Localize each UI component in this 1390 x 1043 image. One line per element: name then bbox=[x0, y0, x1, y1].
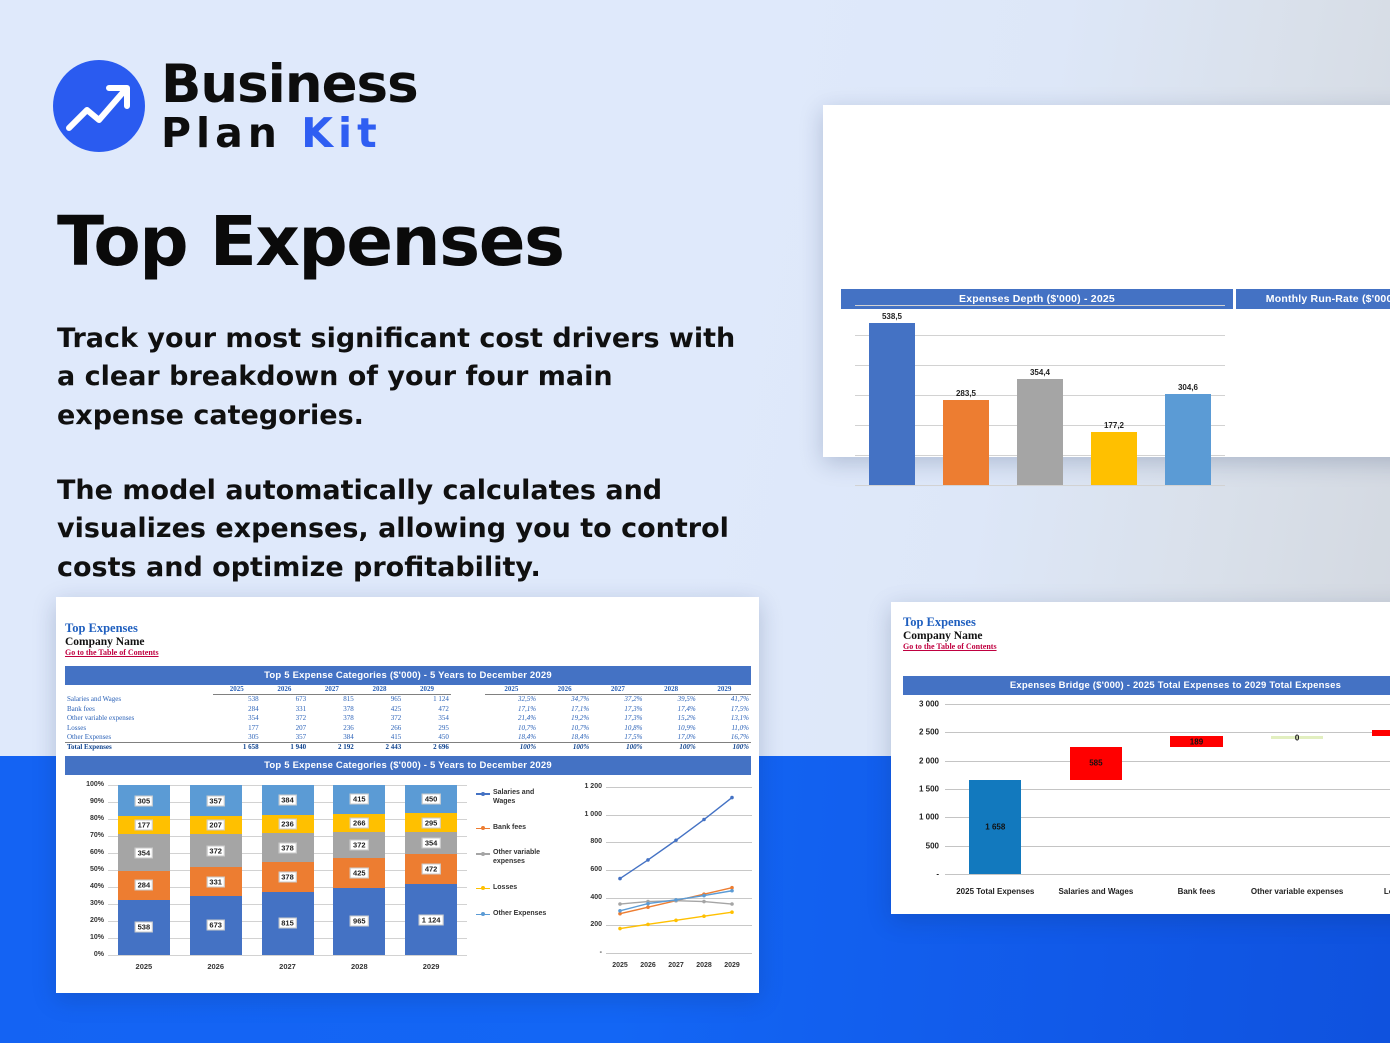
cell-value: 965 bbox=[356, 695, 404, 705]
table-of-contents-link[interactable]: Go to the Table of Contents bbox=[65, 648, 159, 657]
cell-value: 331 bbox=[261, 705, 309, 714]
segment-value-label: 207 bbox=[206, 820, 225, 831]
stack-segment: 538 bbox=[118, 900, 170, 955]
row-label: Other Expenses bbox=[65, 733, 213, 743]
brand-kit-word: Kit bbox=[301, 109, 381, 157]
stack-segment: 236 bbox=[262, 815, 314, 833]
y-axis-tick: 80% bbox=[82, 815, 104, 822]
legend-line-marker bbox=[476, 828, 490, 830]
cell-value: 673 bbox=[261, 695, 309, 705]
grid-line bbox=[108, 955, 467, 956]
segment-value-label: 673 bbox=[206, 920, 225, 931]
cell-percent: 17,4% bbox=[644, 705, 697, 714]
x-axis-tick: 2026 bbox=[634, 962, 662, 969]
y-axis-tick: 10% bbox=[82, 934, 104, 941]
x-axis-tick: 2025 bbox=[606, 962, 634, 969]
sheet-title: Top Expenses bbox=[65, 621, 159, 636]
table-row: Salaries and Wages5386738159651 12432,5%… bbox=[65, 695, 751, 705]
legend-line-marker bbox=[476, 793, 490, 795]
cell-percent: 17,0% bbox=[644, 733, 697, 743]
cell-gap bbox=[451, 695, 485, 705]
segment-value-label: 354 bbox=[422, 838, 441, 849]
segment-value-label: 384 bbox=[278, 794, 297, 805]
segment-value-label: 472 bbox=[422, 864, 441, 875]
segment-value-label: 284 bbox=[135, 880, 154, 891]
cell-value: 295 bbox=[403, 724, 451, 733]
segment-value-label: 354 bbox=[135, 847, 154, 858]
row-label: Other variable expenses bbox=[65, 714, 213, 723]
segment-value-label: 538 bbox=[135, 922, 154, 933]
x-axis-tick: 2025 Total Expenses bbox=[945, 887, 1046, 896]
table-row: Losses17720723626629510,7%10,7%10,8%10,9… bbox=[65, 724, 751, 733]
y-axis-tick: - bbox=[936, 870, 939, 879]
cell-percent: 17,5% bbox=[591, 733, 644, 743]
depth-bar: 354,4 bbox=[1017, 379, 1063, 485]
y-axis-tick: 100% bbox=[82, 781, 104, 788]
cell-percent: 15,2% bbox=[644, 714, 697, 723]
cell-percent: 10,7% bbox=[485, 724, 538, 733]
legend-item: Other Expenses bbox=[476, 910, 554, 919]
expense-table-body: Salaries and Wages5386738159651 12432,5%… bbox=[65, 695, 751, 753]
monthly-runrate-title: Monthly Run-Rate ($'000) bbox=[1236, 289, 1390, 309]
cell-value: 372 bbox=[356, 714, 404, 723]
cell-value: 450 bbox=[403, 733, 451, 743]
segment-value-label: 372 bbox=[350, 840, 369, 851]
total-percent: 100% bbox=[485, 743, 538, 753]
cell-value: 357 bbox=[261, 733, 309, 743]
waterfall-value-label: 0 bbox=[1295, 733, 1299, 742]
stack-segment: 425 bbox=[333, 858, 385, 888]
expense-trend-line-chart: 1 2001 000800600400200-20252026202720282… bbox=[576, 781, 752, 973]
cell-value: 177 bbox=[213, 724, 261, 733]
cell-gap bbox=[451, 743, 485, 753]
legend-label: Losses bbox=[493, 884, 517, 893]
x-axis-tick: 2028 bbox=[333, 962, 385, 971]
total-value: 2 192 bbox=[308, 743, 356, 753]
y-axis-tick: 40% bbox=[82, 883, 104, 890]
legend-label: Other variable expenses bbox=[493, 849, 554, 867]
segment-value-label: 415 bbox=[350, 794, 369, 805]
col-year: 2025 bbox=[213, 685, 261, 695]
stacked-column: 4502953544721 124 bbox=[405, 785, 457, 955]
cell-value: 384 bbox=[308, 733, 356, 743]
x-axis-tick: 2027 bbox=[262, 962, 314, 971]
total-label: Total Expenses bbox=[65, 743, 213, 753]
cell-percent: 37,2% bbox=[591, 695, 644, 705]
cell-gap bbox=[451, 733, 485, 743]
cell-percent: 21,4% bbox=[485, 714, 538, 723]
cell-percent: 10,8% bbox=[591, 724, 644, 733]
stack-segment: 472 bbox=[405, 854, 457, 884]
waterfall-bar: 585 bbox=[1070, 747, 1122, 780]
brand-plan-word: Plan bbox=[161, 109, 282, 157]
segment-value-label: 378 bbox=[278, 872, 297, 883]
cell-value: 538 bbox=[213, 695, 261, 705]
hero-paragraph-1: Track your most significant cost drivers… bbox=[57, 320, 737, 435]
stack-segment: 1 124 bbox=[405, 884, 457, 955]
y-axis-tick: 0% bbox=[82, 951, 104, 958]
waterfall-value-label: 189 bbox=[1190, 737, 1203, 746]
y-axis-tick: 2 000 bbox=[919, 756, 939, 765]
stack-segment: 372 bbox=[333, 832, 385, 858]
table-row: Other Expenses30535738441545018,4%18,4%1… bbox=[65, 733, 751, 743]
cell-percent: 19,2% bbox=[538, 714, 591, 723]
stack-segment: 305 bbox=[118, 785, 170, 816]
cell-value: 354 bbox=[213, 714, 261, 723]
grid-line bbox=[855, 305, 1225, 306]
stack-segment: 415 bbox=[333, 785, 385, 814]
segment-value-label: 266 bbox=[350, 818, 369, 829]
cell-percent: 10,7% bbox=[538, 724, 591, 733]
segment-value-label: 357 bbox=[206, 795, 225, 806]
stacked-column: 357207372331673 bbox=[190, 785, 242, 955]
col-year: 2028 bbox=[356, 685, 404, 695]
cell-value: 425 bbox=[356, 705, 404, 714]
legend-label: Bank fees bbox=[493, 824, 526, 833]
depth-bar: 283,5 bbox=[943, 400, 989, 485]
expense-table: 2025202620272028202920252026202720282029… bbox=[65, 685, 751, 753]
row-label: Salaries and Wages bbox=[65, 695, 213, 705]
cell-percent: 11,0% bbox=[698, 724, 751, 733]
legend-label: Salaries and Wages bbox=[493, 789, 554, 807]
bar-value-label: 304,6 bbox=[1178, 383, 1198, 392]
expenses-depth-panel: Expenses Depth ($'000) - 2025 Monthly Ru… bbox=[823, 105, 1390, 457]
stack-segment: 354 bbox=[405, 832, 457, 854]
x-axis-tick: 2025 bbox=[118, 962, 170, 971]
cell-value: 236 bbox=[308, 724, 356, 733]
cell-percent: 17,3% bbox=[591, 714, 644, 723]
segment-value-label: 378 bbox=[278, 842, 297, 853]
table-row: Bank fees28433137842547217,1%17,1%17,3%1… bbox=[65, 705, 751, 714]
cell-percent: 18,4% bbox=[538, 733, 591, 743]
stack-segment: 331 bbox=[190, 867, 242, 896]
stack-segment: 450 bbox=[405, 785, 457, 813]
legend-line-marker bbox=[476, 888, 490, 890]
total-value: 2 443 bbox=[356, 743, 404, 753]
stack-segment: 295 bbox=[405, 813, 457, 832]
cell-percent: 18,4% bbox=[485, 733, 538, 743]
cell-value: 305 bbox=[213, 733, 261, 743]
waterfall-value-label: 585 bbox=[1089, 759, 1102, 768]
y-axis-tick: 20% bbox=[82, 917, 104, 924]
y-axis-tick: 1 500 bbox=[919, 785, 939, 794]
trend-arrow-circle-icon bbox=[53, 60, 145, 152]
x-axis-tick: 2029 bbox=[405, 962, 457, 971]
line-series-group bbox=[576, 781, 752, 973]
segment-value-label: 965 bbox=[350, 916, 369, 927]
cell-value: 378 bbox=[308, 705, 356, 714]
y-axis-tick: 60% bbox=[82, 849, 104, 856]
expense-table-wrap: Top 5 Expense Categories ($'000) - 5 Yea… bbox=[65, 666, 751, 753]
col-gap bbox=[451, 685, 485, 695]
grid-line bbox=[945, 704, 1390, 705]
stacked-chart-legend: Salaries and WagesBank feesOther variabl… bbox=[476, 789, 554, 935]
bar-value-label: 538,5 bbox=[882, 312, 902, 321]
depth-bar-chart: 538,5283,5354,4177,2304,6 bbox=[855, 305, 1225, 485]
bar-value-label: 354,4 bbox=[1030, 368, 1050, 377]
cell-percent: 13,1% bbox=[698, 714, 751, 723]
cell-percent: 16,7% bbox=[698, 733, 751, 743]
bridge-header: Top Expenses Company Name Go to the Tabl… bbox=[903, 615, 997, 651]
col-year-pct: 2029 bbox=[698, 685, 751, 695]
x-axis-tick: 2026 bbox=[190, 962, 242, 971]
table-row: Other variable expenses35437237837235421… bbox=[65, 714, 751, 723]
cell-value: 284 bbox=[213, 705, 261, 714]
depth-bar: 177,2 bbox=[1091, 432, 1137, 485]
y-axis-tick: 30% bbox=[82, 900, 104, 907]
stack-segment: 357 bbox=[190, 785, 242, 816]
stacked-column: 415266372425965 bbox=[333, 785, 385, 955]
brand-name-line2: Plan Kit bbox=[161, 113, 418, 154]
legend-line-marker bbox=[476, 853, 490, 855]
cell-percent: 34,7% bbox=[538, 695, 591, 705]
segment-value-label: 450 bbox=[422, 794, 441, 805]
col-year-pct: 2025 bbox=[485, 685, 538, 695]
col-year: 2029 bbox=[403, 685, 451, 695]
cell-percent: 10,9% bbox=[644, 724, 697, 733]
x-axis-tick: Salaries and Wages bbox=[1046, 887, 1147, 896]
stack-segment: 177 bbox=[118, 816, 170, 834]
bridge-chart-title: Expenses Bridge ($'000) - 2025 Total Exp… bbox=[903, 676, 1390, 695]
cell-value: 1 124 bbox=[403, 695, 451, 705]
depth-bar: 538,5 bbox=[869, 323, 915, 485]
segment-value-label: 295 bbox=[422, 817, 441, 828]
grid-line bbox=[945, 761, 1390, 762]
stack-segment: 354 bbox=[118, 834, 170, 870]
expense-table-title: Top 5 Expense Categories ($'000) - 5 Yea… bbox=[65, 666, 751, 685]
stack-segment: 673 bbox=[190, 896, 242, 955]
bar-value-label: 177,2 bbox=[1104, 421, 1124, 430]
legend-item: Losses bbox=[476, 884, 554, 893]
cell-percent: 17,3% bbox=[591, 705, 644, 714]
y-axis-tick: 70% bbox=[82, 832, 104, 839]
total-percent: 100% bbox=[698, 743, 751, 753]
depth-bar: 304,6 bbox=[1165, 394, 1211, 485]
x-axis-tick: 2028 bbox=[690, 962, 718, 969]
sheet-company-name: Company Name bbox=[65, 636, 159, 648]
hero-paragraph-2: The model automatically calculates and v… bbox=[57, 472, 737, 587]
stacked-column: 384236378378815 bbox=[262, 785, 314, 955]
segment-value-label: 1 124 bbox=[419, 914, 444, 925]
sheet-header: Top Expenses Company Name Go to the Tabl… bbox=[65, 621, 159, 657]
cell-percent: 17,1% bbox=[538, 705, 591, 714]
segment-value-label: 177 bbox=[135, 820, 154, 831]
total-percent: 100% bbox=[591, 743, 644, 753]
stacked-bar-chart: 100%90%80%70%60%50%40%30%20%10%0%3051773… bbox=[82, 781, 467, 973]
cell-percent: 39,5% bbox=[644, 695, 697, 705]
brand-logo: Business Plan Kit bbox=[53, 58, 418, 154]
grid-line bbox=[945, 874, 1390, 875]
brand-name-line1: Business bbox=[161, 58, 418, 111]
bridge-waterfall-chart: 3 0002 5002 0001 5001 000500-1 6582025 T… bbox=[903, 698, 1390, 896]
bridge-title: Top Expenses bbox=[903, 615, 997, 630]
waterfall-bar: 1 658 bbox=[969, 780, 1021, 874]
waterfall-bar: 189 bbox=[1170, 736, 1222, 747]
total-percent: 100% bbox=[644, 743, 697, 753]
expenses-bridge-panel: Top Expenses Company Name Go to the Tabl… bbox=[891, 602, 1390, 914]
legend-item: Other variable expenses bbox=[476, 849, 554, 867]
col-year: 2026 bbox=[261, 685, 309, 695]
y-axis-tick: 3 000 bbox=[919, 700, 939, 709]
cell-value: 372 bbox=[261, 714, 309, 723]
stacked-column: 305177354284538 bbox=[118, 785, 170, 955]
waterfall-value-label: 1 658 bbox=[985, 823, 1005, 832]
cell-percent: 32,5% bbox=[485, 695, 538, 705]
cell-value: 378 bbox=[308, 714, 356, 723]
grid-line bbox=[945, 732, 1390, 733]
stack-segment: 378 bbox=[262, 862, 314, 891]
stack-segment: 207 bbox=[190, 816, 242, 834]
y-axis-tick: 90% bbox=[82, 798, 104, 805]
cell-value: 815 bbox=[308, 695, 356, 705]
total-value: 1 658 bbox=[213, 743, 261, 753]
page-title: Top Expenses bbox=[57, 202, 564, 282]
stack-segment: 266 bbox=[333, 814, 385, 833]
legend-item: Bank fees bbox=[476, 824, 554, 833]
y-axis-tick: 1 000 bbox=[919, 813, 939, 822]
total-percent: 100% bbox=[538, 743, 591, 753]
stack-segment: 815 bbox=[262, 892, 314, 955]
bridge-toc-link[interactable]: Go to the Table of Contents bbox=[903, 642, 997, 651]
cell-gap bbox=[451, 705, 485, 714]
stacked-chart-title: Top 5 Expense Categories ($'000) - 5 Yea… bbox=[65, 756, 751, 775]
cell-gap bbox=[451, 714, 485, 723]
cell-value: 415 bbox=[356, 733, 404, 743]
y-axis-tick: 50% bbox=[82, 866, 104, 873]
cell-value: 207 bbox=[261, 724, 309, 733]
stack-segment: 284 bbox=[118, 871, 170, 900]
cell-gap bbox=[451, 724, 485, 733]
col-year-pct: 2028 bbox=[644, 685, 697, 695]
x-axis-tick: Other variable expenses bbox=[1247, 887, 1348, 896]
segment-value-label: 236 bbox=[278, 818, 297, 829]
x-axis-tick: Bank fees bbox=[1146, 887, 1247, 896]
segment-value-label: 331 bbox=[206, 876, 225, 887]
x-axis-tick: Losses bbox=[1347, 887, 1390, 896]
table-total-row: Total Expenses1 6581 9402 1922 4432 6961… bbox=[65, 743, 751, 753]
cell-value: 354 bbox=[403, 714, 451, 723]
waterfall-bar: 0 bbox=[1271, 736, 1323, 739]
y-axis-tick: 500 bbox=[926, 841, 939, 850]
grid-line bbox=[855, 485, 1225, 486]
col-year-pct: 2027 bbox=[591, 685, 644, 695]
stack-segment: 384 bbox=[262, 785, 314, 815]
top-expenses-sheet-panel: Top Expenses Company Name Go to the Tabl… bbox=[56, 597, 759, 993]
stack-segment: 372 bbox=[190, 834, 242, 867]
col-year: 2027 bbox=[308, 685, 356, 695]
bar-value-label: 283,5 bbox=[956, 389, 976, 398]
total-value: 2 696 bbox=[403, 743, 451, 753]
total-value: 1 940 bbox=[261, 743, 309, 753]
segment-value-label: 305 bbox=[135, 795, 154, 806]
row-label: Bank fees bbox=[65, 705, 213, 714]
segment-value-label: 372 bbox=[206, 845, 225, 856]
row-label: Losses bbox=[65, 724, 213, 733]
expense-table-header-row: 2025202620272028202920252026202720282029 bbox=[65, 685, 751, 695]
cell-percent: 41,7% bbox=[698, 695, 751, 705]
stack-segment: 965 bbox=[333, 888, 385, 955]
waterfall-bar: 118 bbox=[1372, 730, 1390, 737]
cell-percent: 17,5% bbox=[698, 705, 751, 714]
cell-value: 266 bbox=[356, 724, 404, 733]
y-axis-tick: 2 500 bbox=[919, 728, 939, 737]
legend-line-marker bbox=[476, 914, 490, 916]
legend-item: Salaries and Wages bbox=[476, 789, 554, 807]
stack-segment: 378 bbox=[262, 833, 314, 862]
bridge-company-name: Company Name bbox=[903, 630, 997, 642]
cell-value: 472 bbox=[403, 705, 451, 714]
segment-value-label: 815 bbox=[278, 918, 297, 929]
x-axis-tick: 2027 bbox=[662, 962, 690, 969]
col-year-pct: 2026 bbox=[538, 685, 591, 695]
legend-label: Other Expenses bbox=[493, 910, 546, 919]
x-axis-tick: 2029 bbox=[718, 962, 746, 969]
segment-value-label: 425 bbox=[350, 868, 369, 879]
col-blank bbox=[65, 685, 213, 695]
cell-percent: 17,1% bbox=[485, 705, 538, 714]
